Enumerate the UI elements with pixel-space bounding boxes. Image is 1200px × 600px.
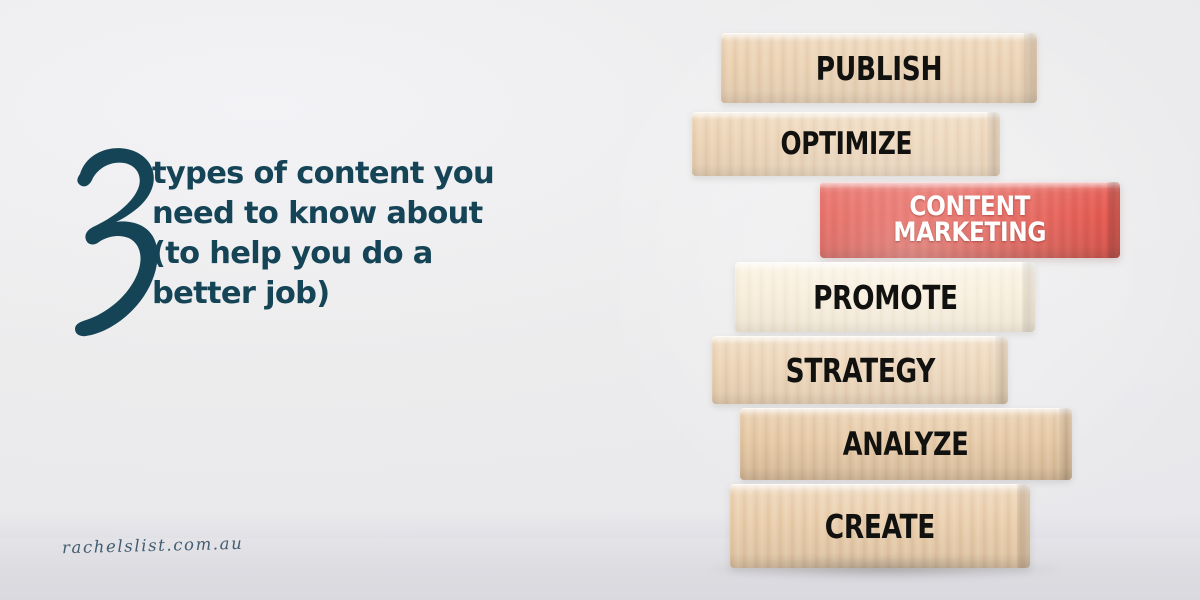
headline-line-2: need to know about: [152, 194, 604, 234]
block-optimize: OPTIMIZE: [692, 112, 1000, 176]
headline-line-1: types of content you: [152, 154, 604, 194]
block-top-highlight: [730, 484, 1030, 491]
block-top-highlight: [820, 182, 1120, 189]
block-label-optimize: OPTIMIZE: [780, 129, 912, 160]
block-label-promote: PROMOTE: [813, 281, 958, 314]
promo-graphic: types of content you need to know about …: [0, 0, 1200, 600]
block-top-highlight: [740, 408, 1072, 415]
headline-block: types of content you need to know about …: [72, 150, 612, 350]
block-end-grain: [1022, 262, 1035, 332]
block-label-strategy: STRATEGY: [785, 354, 934, 387]
block-label-line-2: MARKETING: [894, 220, 1047, 246]
block-label-content-marketing: CONTENT MARKETING: [894, 194, 1047, 245]
page-title: types of content you need to know about …: [152, 154, 604, 314]
block-publish: PUBLISH: [721, 33, 1037, 103]
block-end-grain: [1024, 33, 1037, 103]
numeral-three-icon: [72, 144, 164, 340]
block-content-marketing: CONTENT MARKETING: [820, 182, 1120, 258]
block-label-publish: PUBLISH: [816, 52, 942, 85]
block-promote: PROMOTE: [735, 262, 1035, 332]
headline-line-3: (to help you do a: [152, 234, 604, 274]
block-top-highlight: [712, 336, 1008, 343]
block-analyze: ANALYZE: [740, 408, 1072, 480]
block-end-grain: [987, 112, 1000, 176]
block-label-create: CREATE: [825, 510, 935, 543]
block-end-grain: [995, 336, 1008, 404]
block-end-grain: [1059, 408, 1072, 480]
block-top-highlight: [721, 33, 1037, 40]
stack-floor-shadow: [700, 556, 1070, 582]
block-top-highlight: [735, 262, 1035, 269]
block-end-grain: [1107, 182, 1120, 258]
block-strategy: STRATEGY: [712, 336, 1008, 404]
headline-line-4: better job): [152, 274, 604, 314]
block-label-analyze: ANALYZE: [843, 428, 969, 460]
block-top-highlight: [692, 112, 1000, 119]
